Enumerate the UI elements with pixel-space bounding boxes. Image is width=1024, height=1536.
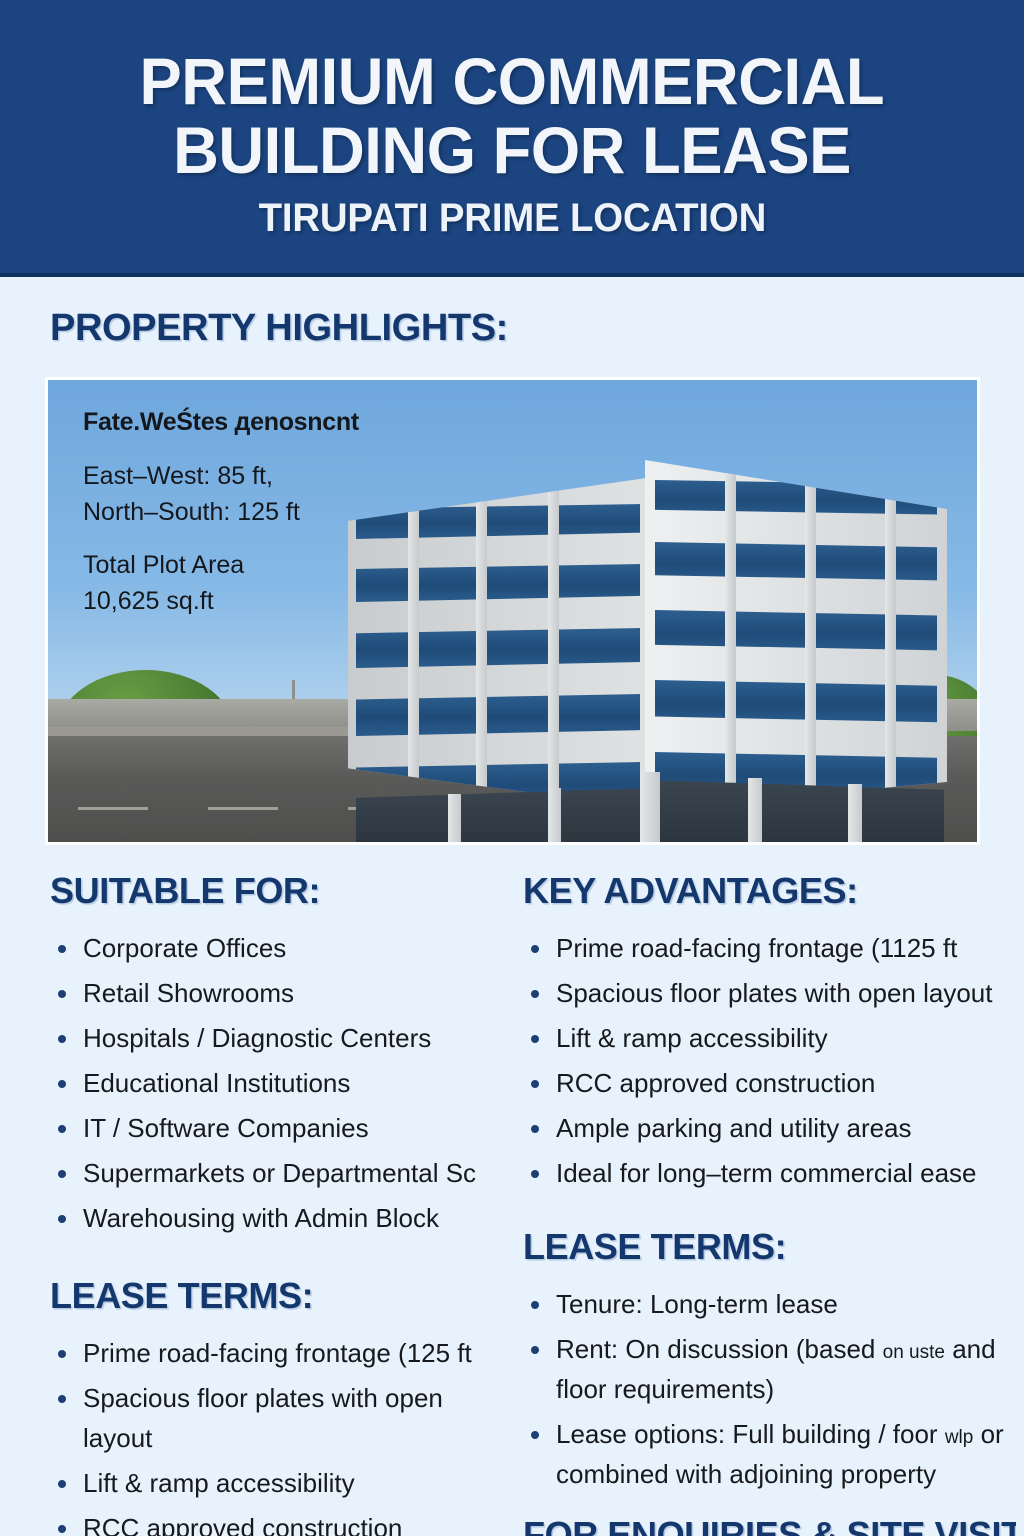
list-item: Spacious floor plates with open layout: [523, 973, 1016, 1013]
ground-floor-retail-right: [648, 780, 944, 845]
lease-terms-left-heading: LEASE TERMS:: [50, 1275, 505, 1317]
lease-terms-right-heading: LEASE TERMS:: [523, 1226, 1016, 1268]
list-item: Supermarkets or Departmental Sc: [50, 1153, 505, 1193]
list-item: Corporate Offices: [50, 928, 505, 968]
list-item: Prime road-facing frontage (125 ft: [50, 1333, 505, 1373]
list-item: Lift & ramp accessibility: [50, 1463, 505, 1503]
key-advantages-list: Prime road-facing frontage (1125 ft Spac…: [523, 928, 1016, 1193]
ground-floor-retail-left: [356, 788, 646, 845]
poster-header: PREMIUM COMMERCIAL BUILDING FOR LEASE TI…: [0, 0, 1024, 277]
road-lane-marking: [208, 807, 278, 810]
building-right-facade: [645, 460, 947, 810]
road-lane-marking: [78, 807, 148, 810]
suitable-for-heading: SUITABLE FOR:: [50, 870, 505, 912]
list-item: Rent: On discussion (based on uste and f…: [523, 1329, 1016, 1409]
ground-column: [640, 772, 660, 845]
overlay-plot-area-value: 10,625 sq.ft: [83, 584, 413, 620]
enquiries-heading: FOR ENQUIRIES & SITE VISIT:: [523, 1514, 1016, 1536]
list-item: RCC approved construction: [50, 1508, 505, 1536]
header-title-line1: PREMIUM COMMERCIAL: [140, 47, 885, 116]
header-title-line2: BUILDING FOR LEASE: [173, 116, 851, 185]
overlay-dimension-east-west: East–West: 85 ft,: [83, 459, 413, 495]
list-item: Warehousing with Admin Block: [50, 1198, 505, 1238]
list-item: Ideal for long–term commercial ease: [523, 1153, 1016, 1193]
key-advantages-heading: KEY ADVANTAGES:: [523, 870, 1016, 912]
lease-terms-right-list: Tenure: Long-term lease Rent: On discuss…: [523, 1284, 1016, 1494]
ground-column: [748, 778, 762, 845]
lease-terms-left-block: LEASE TERMS: Prime road-facing frontage …: [50, 1275, 505, 1536]
lease-terms-left-list: Prime road-facing frontage (125 ft Spaci…: [50, 1333, 505, 1536]
key-advantages-block: KEY ADVANTAGES: Prime road-facing fronta…: [523, 870, 1016, 1193]
property-highlights-heading: PROPERTY HIGHLIGHTS:: [50, 307, 508, 350]
right-content-column: KEY ADVANTAGES: Prime road-facing fronta…: [523, 870, 1016, 1536]
list-item: IT / Software Companies: [50, 1108, 505, 1148]
list-item: Ample parking and utility areas: [523, 1108, 1016, 1148]
ground-column: [848, 784, 862, 845]
list-item: Prime road-facing frontage (1125 ft: [523, 928, 1016, 968]
ground-column: [548, 788, 561, 845]
list-item: RCC approved construction: [523, 1063, 1016, 1103]
header-subtitle: TIRUPATI PRIME LOCATION: [258, 196, 766, 240]
list-item-main: Rent: On discussion (based: [556, 1334, 875, 1364]
lease-terms-right-block: LEASE TERMS: Tenure: Long-term lease Ren…: [523, 1226, 1016, 1494]
list-item: Lease options: Full building / foor wlp …: [523, 1414, 1016, 1494]
list-item: Hospitals / Diagnostic Centers: [50, 1018, 505, 1058]
building-photo: Fate.WeŚtes дenosncnt East–West: 85 ft, …: [45, 377, 980, 845]
poster-page: PREMIUM COMMERCIAL BUILDING FOR LEASE TI…: [0, 0, 1024, 1536]
list-item-small-fragment: wlp: [945, 1427, 974, 1448]
ground-column: [448, 794, 461, 845]
list-item: Lift & ramp accessibility: [523, 1018, 1016, 1058]
list-item-main: Lease options: Full building / foor: [556, 1419, 938, 1449]
list-item: Tenure: Long-term lease: [523, 1284, 1016, 1324]
overlay-plot-area-label: Total Plot Area: [83, 548, 413, 584]
suitable-for-block: SUITABLE FOR: Corporate Offices Retail S…: [50, 870, 505, 1238]
overlay-dimension-north-south: North–South: 125 ft: [83, 495, 413, 531]
suitable-for-list: Corporate Offices Retail Showrooms Hospi…: [50, 928, 505, 1238]
photo-text-overlay: Fate.WeŚtes дenosncnt East–West: 85 ft, …: [83, 408, 413, 619]
overlay-garbled-line: Fate.WeŚtes дenosncnt: [83, 408, 413, 437]
list-item: Educational Institutions: [50, 1063, 505, 1103]
left-content-column: SUITABLE FOR: Corporate Offices Retail S…: [50, 870, 505, 1536]
list-item-small-fragment: on uste: [883, 1342, 945, 1363]
list-item: Spacious floor plates with open layout: [50, 1378, 505, 1458]
list-item: Retail Showrooms: [50, 973, 505, 1013]
